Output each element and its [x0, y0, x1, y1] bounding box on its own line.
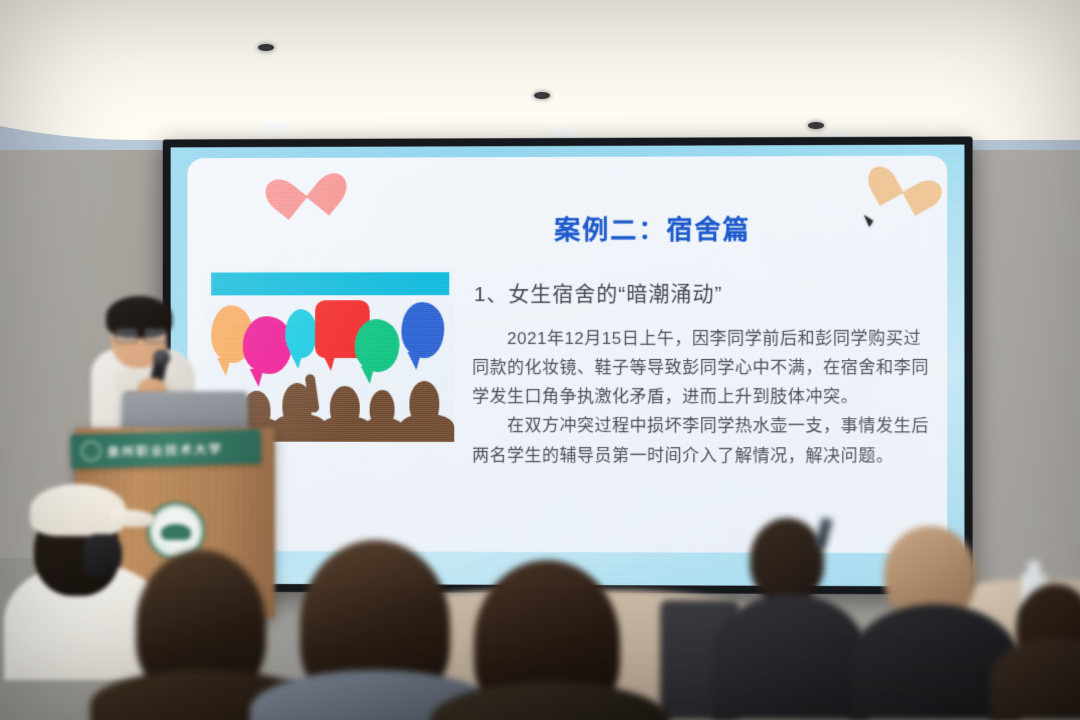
- presentation-scene: 案例二：宿舍篇 1、女生宿舍的“暗潮涌动” 2021年12月15日上午，因李同学…: [0, 0, 1080, 720]
- audience-foreground: [0, 480, 1080, 720]
- shoulders: [990, 638, 1080, 720]
- slide-heading: 1、女生宿舍的“暗潮涌动”: [474, 277, 723, 307]
- audience-long-hair-front-right: [430, 560, 670, 720]
- audience-back-row-right: [1000, 570, 1080, 720]
- ceiling-spotlight-3: [808, 122, 824, 129]
- pink-heart-decoration: [274, 155, 336, 209]
- bubble-magenta: [243, 316, 293, 374]
- cap-brim: [109, 508, 156, 528]
- bubble-green: [355, 320, 400, 373]
- bubble-blue: [402, 302, 444, 358]
- head: [750, 518, 824, 602]
- ceiling-downlight-1: [262, 122, 288, 131]
- slide-body: 2021年12月15日上午，因李同学前后和彭同学购买过同款的化妆镜、鞋子等导致彭…: [472, 324, 936, 471]
- ceiling: [0, 0, 1080, 150]
- shoulders: [712, 594, 868, 720]
- slide-title: 案例二：宿舍篇: [171, 209, 965, 248]
- slide-paragraph-1: 2021年12月15日上午，因李同学前后和彭同学购买过同款的化妆镜、鞋子等导致彭…: [472, 324, 936, 412]
- podium-banner: 泉州职业技术大学: [71, 429, 262, 468]
- shoulders: [430, 682, 670, 720]
- white-cap: [30, 484, 126, 536]
- ceiling-band-1: [0, 0, 1080, 140]
- glasses-icon: [115, 328, 167, 341]
- audience-dark-shirt-phone: [720, 510, 860, 720]
- audience-short-hair-right: [860, 520, 1010, 720]
- ceiling-spotlight-2: [534, 92, 550, 99]
- podium-banner-text: 泉州职业技术大学: [107, 438, 224, 460]
- bubble-cyan: [285, 309, 317, 358]
- slide-paragraph-2: 在双方冲突过程中损坏李同学热水壶一支，事情发生后两名学生的辅导员第一时间介入了解…: [472, 411, 936, 470]
- illustration-top-bar: [211, 272, 449, 295]
- university-seal-logo: [81, 441, 102, 462]
- ceiling-spotlight-1: [258, 44, 274, 51]
